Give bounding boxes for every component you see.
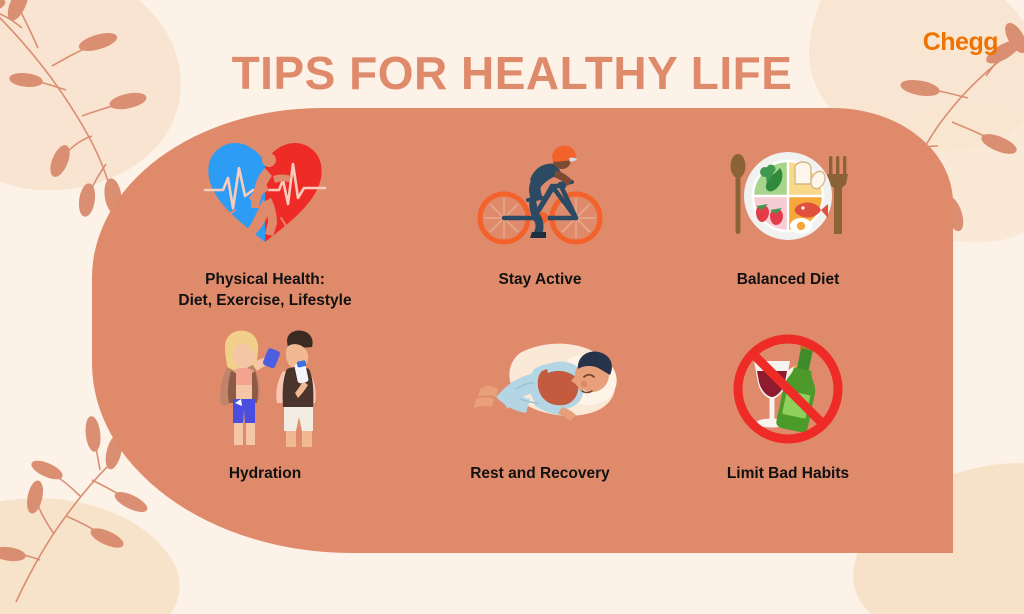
tip-label-line1: Rest and Recovery — [410, 464, 670, 485]
tip-balanced-diet[interactable]: Balanced Diet — [658, 136, 918, 291]
tip-label-line2: Diet, Exercise, Lifestyle — [135, 291, 395, 312]
tip-label: Stay Active — [410, 270, 670, 291]
tip-label: Limit Bad Habits — [658, 464, 918, 485]
tip-label-line1: Limit Bad Habits — [658, 464, 918, 485]
tip-label-line1: Physical Health: — [135, 270, 395, 291]
woman-figure — [220, 331, 281, 445]
tip-label-line1: Stay Active — [410, 270, 670, 291]
food-plate-icon — [658, 136, 918, 256]
cyclist-icon — [410, 136, 670, 256]
tip-label: Physical Health: Diet, Exercise, Lifesty… — [135, 270, 395, 312]
man-figure — [276, 330, 316, 447]
tip-label-line1: Balanced Diet — [658, 270, 918, 291]
tip-label: Rest and Recovery — [410, 464, 670, 485]
infographic-poster: Chegg TIPS FOR HEALTHY LIFE — [0, 0, 1024, 614]
heart-runner-ecg-icon — [135, 136, 395, 256]
two-people-drinking-water-icon — [135, 330, 395, 450]
no-alcohol-no-smoking-icon — [658, 330, 918, 450]
tip-rest-and-recovery[interactable]: Rest and Recovery — [410, 330, 670, 485]
tips-grid: Physical Health: Diet, Exercise, Lifesty… — [92, 108, 953, 553]
page-title: TIPS FOR HEALTHY LIFE — [0, 46, 1024, 100]
tip-physical-health[interactable]: Physical Health: Diet, Exercise, Lifesty… — [135, 136, 395, 312]
tip-label-line1: Hydration — [135, 464, 395, 485]
spoon-icon — [731, 154, 746, 234]
tip-label: Balanced Diet — [658, 270, 918, 291]
tip-label: Hydration — [135, 464, 395, 485]
tip-limit-bad-habits[interactable]: Limit Bad Habits — [658, 330, 918, 485]
tip-stay-active[interactable]: Stay Active — [410, 136, 670, 291]
sleeping-person-icon — [410, 330, 670, 450]
tip-hydration[interactable]: Hydration — [135, 330, 395, 485]
